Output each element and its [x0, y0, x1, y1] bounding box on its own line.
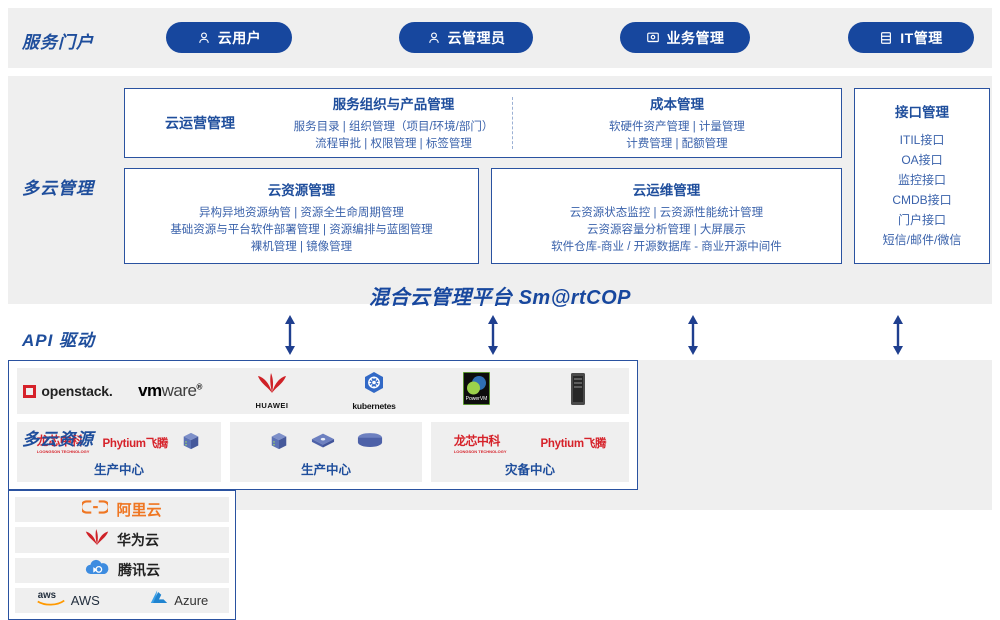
vendor-label: HUAWEI — [256, 401, 289, 410]
private-cloud-box: openstack. vmware® HUAWEI — [8, 360, 638, 490]
portal-button-label: 云管理员 — [448, 28, 506, 48]
phytium-logo: Phytium飞腾 — [541, 435, 607, 451]
portal-button-label: 云用户 — [218, 28, 262, 48]
api-driven-band — [8, 310, 992, 358]
architecture-diagram: 服务门户 云用户 云管理员 业务管理 — [0, 0, 1000, 518]
vendor-logo-strip: openstack. vmware® HUAWEI — [17, 368, 629, 414]
public-cloud-aws-azure: aws AWS Azure — [15, 588, 229, 613]
huawei-flower-icon — [257, 373, 287, 399]
multicloud-management-band: 云运营管理 服务组织与产品管理 服务目录 | 组织管理（项目/环境/部门） 流程… — [8, 76, 992, 304]
vendor-powervm: PowerVM — [425, 372, 527, 410]
user-icon — [427, 31, 441, 45]
service-product-mgmt-column: 服务组织与产品管理 服务目录 | 组织管理（项目/环境/部门） 流程审批 | 权… — [275, 93, 512, 153]
server-icon — [181, 431, 201, 456]
cost-mgmt-column: 成本管理 软硬件资产管理 | 计量管理 计费管理 | 配额管理 — [513, 93, 841, 153]
vendor-label: kubernetes — [352, 401, 395, 411]
multicloud-resources-label: 多云资源 — [22, 425, 94, 450]
cloud-maintenance-mgmt-line: 云资源状态监控 | 云资源性能统计管理 — [498, 205, 835, 222]
kubernetes-icon — [362, 371, 386, 400]
public-cloud-tencent: 腾讯云 — [15, 558, 229, 583]
datacenter-label: 灾备中心 — [505, 459, 555, 478]
api-arrow — [685, 314, 701, 361]
azure-icon — [149, 589, 169, 611]
public-cloud-azure: Azure — [149, 589, 208, 611]
api-arrow — [282, 314, 298, 361]
multicloud-resources-band: openstack. vmware® HUAWEI — [8, 360, 992, 510]
public-cloud-aliyun: 阿里云 — [15, 497, 229, 522]
public-cloud-label: Azure — [174, 593, 208, 608]
service-portal-label: 服务门户 — [22, 28, 94, 53]
cost-mgmt-line: 计费管理 | 配额管理 — [517, 136, 837, 153]
datacenter-icons — [269, 428, 383, 458]
cloud-resource-mgmt-line: 基础资源与平台软件部署管理 | 资源编排与蓝图管理 — [131, 222, 472, 239]
portal-button-business-mgmt[interactable]: 业务管理 — [620, 22, 750, 53]
cloud-resource-mgmt-title: 云资源管理 — [131, 179, 472, 199]
portal-button-cloud-user[interactable]: 云用户 — [166, 22, 292, 53]
datacenter-icons: 龙芯中科 LOONGSON TECHNOLOGY Phytium飞腾 — [454, 428, 606, 458]
cost-mgmt-line: 软硬件资产管理 | 计量管理 — [517, 119, 837, 136]
cloud-maintenance-mgmt-line: 软件仓库-商业 / 开源数据库 - 商业开源中间件 — [498, 239, 835, 256]
service-product-mgmt-title: 服务组织与产品管理 — [279, 93, 508, 113]
vmware-icon: vmware® — [138, 381, 202, 401]
switch-icon — [311, 431, 335, 456]
user-icon — [197, 31, 211, 45]
vendor-huawei: HUAWEI — [221, 373, 323, 410]
cloud-operations-title: 云运营管理 — [125, 113, 275, 133]
interface-mgmt-item: ITIL接口 — [859, 130, 985, 150]
svg-text:PowerVM: PowerVM — [465, 396, 487, 402]
datacenter-production-2: 生产中心 — [230, 422, 422, 482]
multicloud-management-label: 多云管理 — [22, 174, 94, 199]
tencent-icon — [84, 559, 110, 582]
cloud-resource-mgmt-line: 裸机管理 | 镜像管理 — [131, 239, 472, 256]
portal-button-label: IT管理 — [900, 28, 942, 48]
public-cloud-huawei: 华为云 — [15, 527, 229, 552]
cloud-operations-box: 云运营管理 服务组织与产品管理 服务目录 | 组织管理（项目/环境/部门） 流程… — [124, 88, 842, 158]
datacenter-row: 龙芯中科 LOONGSON TECHNOLOGY Phytium飞腾 — [17, 422, 629, 482]
cost-mgmt-title: 成本管理 — [517, 93, 837, 113]
vendor-server-rack — [527, 373, 629, 410]
phytium-logo: Phytium飞腾 — [102, 435, 168, 451]
portal-button-cloud-admin[interactable]: 云管理员 — [399, 22, 533, 53]
interface-mgmt-item: OA接口 — [859, 150, 985, 170]
platform-title: 混合云管理平台 Sm@rtCOP — [0, 281, 1000, 310]
interface-mgmt-title: 接口管理 — [859, 101, 985, 121]
datacenter-disaster-recovery: 龙芯中科 LOONGSON TECHNOLOGY Phytium飞腾 灾备中心 — [431, 422, 629, 482]
server-icon — [269, 431, 289, 456]
vendor-label: openstack. — [41, 383, 112, 399]
aws-icon: aws — [36, 588, 66, 612]
public-cloud-box: 阿里云 华为云 — [8, 490, 236, 620]
portal-button-label: 业务管理 — [667, 28, 725, 48]
datacenter-label: 生产中心 — [94, 459, 144, 478]
interface-mgmt-item: CMDB接口 — [859, 190, 985, 210]
vendor-kubernetes: kubernetes — [323, 371, 425, 411]
cloud-maintenance-mgmt-line: 云资源容量分析管理 | 大屏展示 — [498, 222, 835, 239]
datacenter-label: 生产中心 — [301, 459, 351, 478]
interface-mgmt-box: 接口管理 ITIL接口 OA接口 监控接口 CMDB接口 门户接口 短信/邮件/… — [854, 88, 990, 264]
interface-mgmt-item: 监控接口 — [859, 170, 985, 190]
monitor-icon — [646, 31, 660, 45]
interface-mgmt-item: 门户接口 — [859, 210, 985, 230]
api-arrow — [890, 314, 906, 361]
service-product-mgmt-line: 服务目录 | 组织管理（项目/环境/部门） — [279, 119, 508, 136]
cloud-maintenance-mgmt-box: 云运维管理 云资源状态监控 | 云资源性能统计管理 云资源容量分析管理 | 大屏… — [491, 168, 842, 264]
public-cloud-label: 华为云 — [117, 530, 159, 550]
interface-mgmt-item: 短信/邮件/微信 — [859, 230, 985, 250]
public-cloud-aws: aws AWS — [36, 588, 100, 612]
portal-button-it-mgmt[interactable]: IT管理 — [848, 22, 974, 53]
public-cloud-label: AWS — [71, 593, 100, 608]
loongson-logo: 龙芯中科 LOONGSON TECHNOLOGY — [454, 432, 507, 454]
public-cloud-label: 阿里云 — [116, 499, 161, 520]
server-icon — [879, 31, 893, 45]
vendor-openstack: openstack. — [17, 383, 119, 399]
server-rack-icon — [570, 373, 586, 410]
powervm-icon: PowerVM — [463, 372, 490, 410]
storage-icon — [357, 432, 383, 454]
aliyun-icon — [82, 499, 108, 520]
cloud-resource-mgmt-line: 异构异地资源纳管 | 资源全生命周期管理 — [131, 205, 472, 222]
vendor-vmware: vmware® — [119, 381, 221, 401]
huawei-icon — [85, 529, 109, 551]
openstack-icon — [23, 385, 36, 398]
cloud-resource-mgmt-box: 云资源管理 异构异地资源纳管 | 资源全生命周期管理 基础资源与平台软件部署管理… — [124, 168, 479, 264]
api-arrow — [485, 314, 501, 361]
public-cloud-label: 腾讯云 — [118, 560, 160, 580]
cloud-maintenance-mgmt-title: 云运维管理 — [498, 179, 835, 199]
api-driven-label: API 驱动 — [22, 326, 95, 351]
svg-text:aws: aws — [37, 590, 55, 601]
service-product-mgmt-line: 流程审批 | 权限管理 | 标签管理 — [279, 136, 508, 153]
